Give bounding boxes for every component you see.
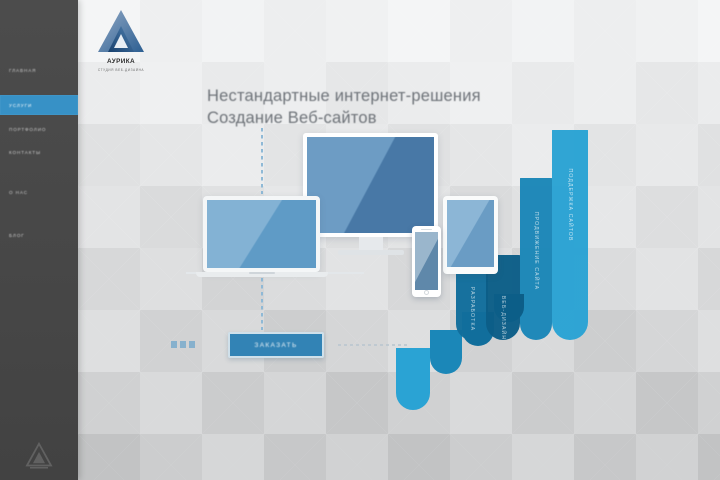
triangle-a-logo-icon — [82, 6, 160, 58]
laptop-screen — [203, 196, 320, 272]
ribbon-arm-2 — [430, 330, 462, 374]
headline-line-1: Нестандартные интернет-решения — [207, 86, 481, 106]
sidebar-item-glavnaya[interactable]: ГЛАВНАЯ — [0, 60, 78, 80]
ribbon-band-band-4: ПОДДЕРЖКА САЙТОВ — [552, 130, 588, 340]
cta-decoration-left — [171, 341, 195, 348]
tablet-device — [443, 196, 498, 274]
sidebar-item-label: БЛОГ — [9, 233, 25, 238]
landing-page-screenshot: ГЛАВНАЯУСЛУГИПОРТФОЛИОКОНТАКТЫО НАСБЛОГ … — [0, 0, 720, 480]
tablet-frame — [443, 196, 498, 274]
dotted-connector-top — [261, 128, 263, 194]
order-cta-button[interactable]: ЗАКАЗАТЬ — [228, 332, 324, 358]
monitor-neck — [359, 237, 383, 250]
sidebar-item-portfolio[interactable]: ПОРТФОЛИО — [0, 119, 78, 139]
sidebar-item-label: ПОРТФОЛИО — [9, 127, 46, 132]
sidebar-item-label: ГЛАВНАЯ — [9, 68, 36, 73]
sidebar-item-o-nas[interactable]: О НАС — [0, 182, 78, 202]
laptop-device — [203, 196, 320, 277]
sidebar-item-kontakty[interactable]: КОНТАКТЫ — [0, 142, 78, 162]
sidebar-item-label: УСЛУГИ — [9, 103, 32, 108]
smartphone-device — [412, 226, 441, 297]
logo-tagline: СТУДИЯ ВЕБ-ДИЗАЙНА — [82, 68, 160, 72]
monitor-screen — [303, 133, 438, 237]
monitor-foot — [338, 250, 404, 255]
ribbon-band-label: РАЗРАБОТКА — [469, 287, 475, 331]
sidebar-item-label: КОНТАКТЫ — [9, 150, 41, 155]
sidebar-item-blog[interactable]: БЛОГ — [0, 225, 78, 245]
sidebar-nav: ГЛАВНАЯУСЛУГИПОРТФОЛИОКОНТАКТЫО НАСБЛОГ — [0, 0, 78, 480]
ribbon-band-label: ВЕБ-ДИЗАЙН — [500, 296, 506, 340]
dotted-connector-bottom — [261, 278, 263, 330]
sidebar-item-uslugi[interactable]: УСЛУГИ — [0, 95, 78, 115]
phone-home-button-icon — [424, 290, 429, 295]
ribbon-band-band-3: ПРОДВИЖЕНИЕ САЙТА — [520, 178, 552, 340]
cta-decoration-right — [338, 344, 408, 346]
phone-frame — [412, 226, 441, 297]
laptop-base — [196, 272, 328, 277]
ribbon-band-label: ПОДДЕРЖКА САЙТОВ — [567, 168, 573, 241]
sidebar-item-label: О НАС — [9, 190, 28, 195]
headline-line-2: Создание Веб-сайтов — [207, 108, 481, 128]
ribbon-band-label: ПРОДВИЖЕНИЕ САЙТА — [533, 212, 539, 290]
order-cta-label: ЗАКАЗАТЬ — [254, 342, 297, 349]
triangle-a-watermark-icon — [24, 440, 54, 470]
logo-brand-name: АУРИКА — [82, 58, 160, 65]
ribbon-arm-1 — [396, 348, 430, 410]
hero-headline: Нестандартные интернет-решения Создание … — [207, 86, 481, 128]
brand-logo[interactable]: АУРИКА СТУДИЯ ВЕБ-ДИЗАЙНА — [82, 6, 160, 80]
